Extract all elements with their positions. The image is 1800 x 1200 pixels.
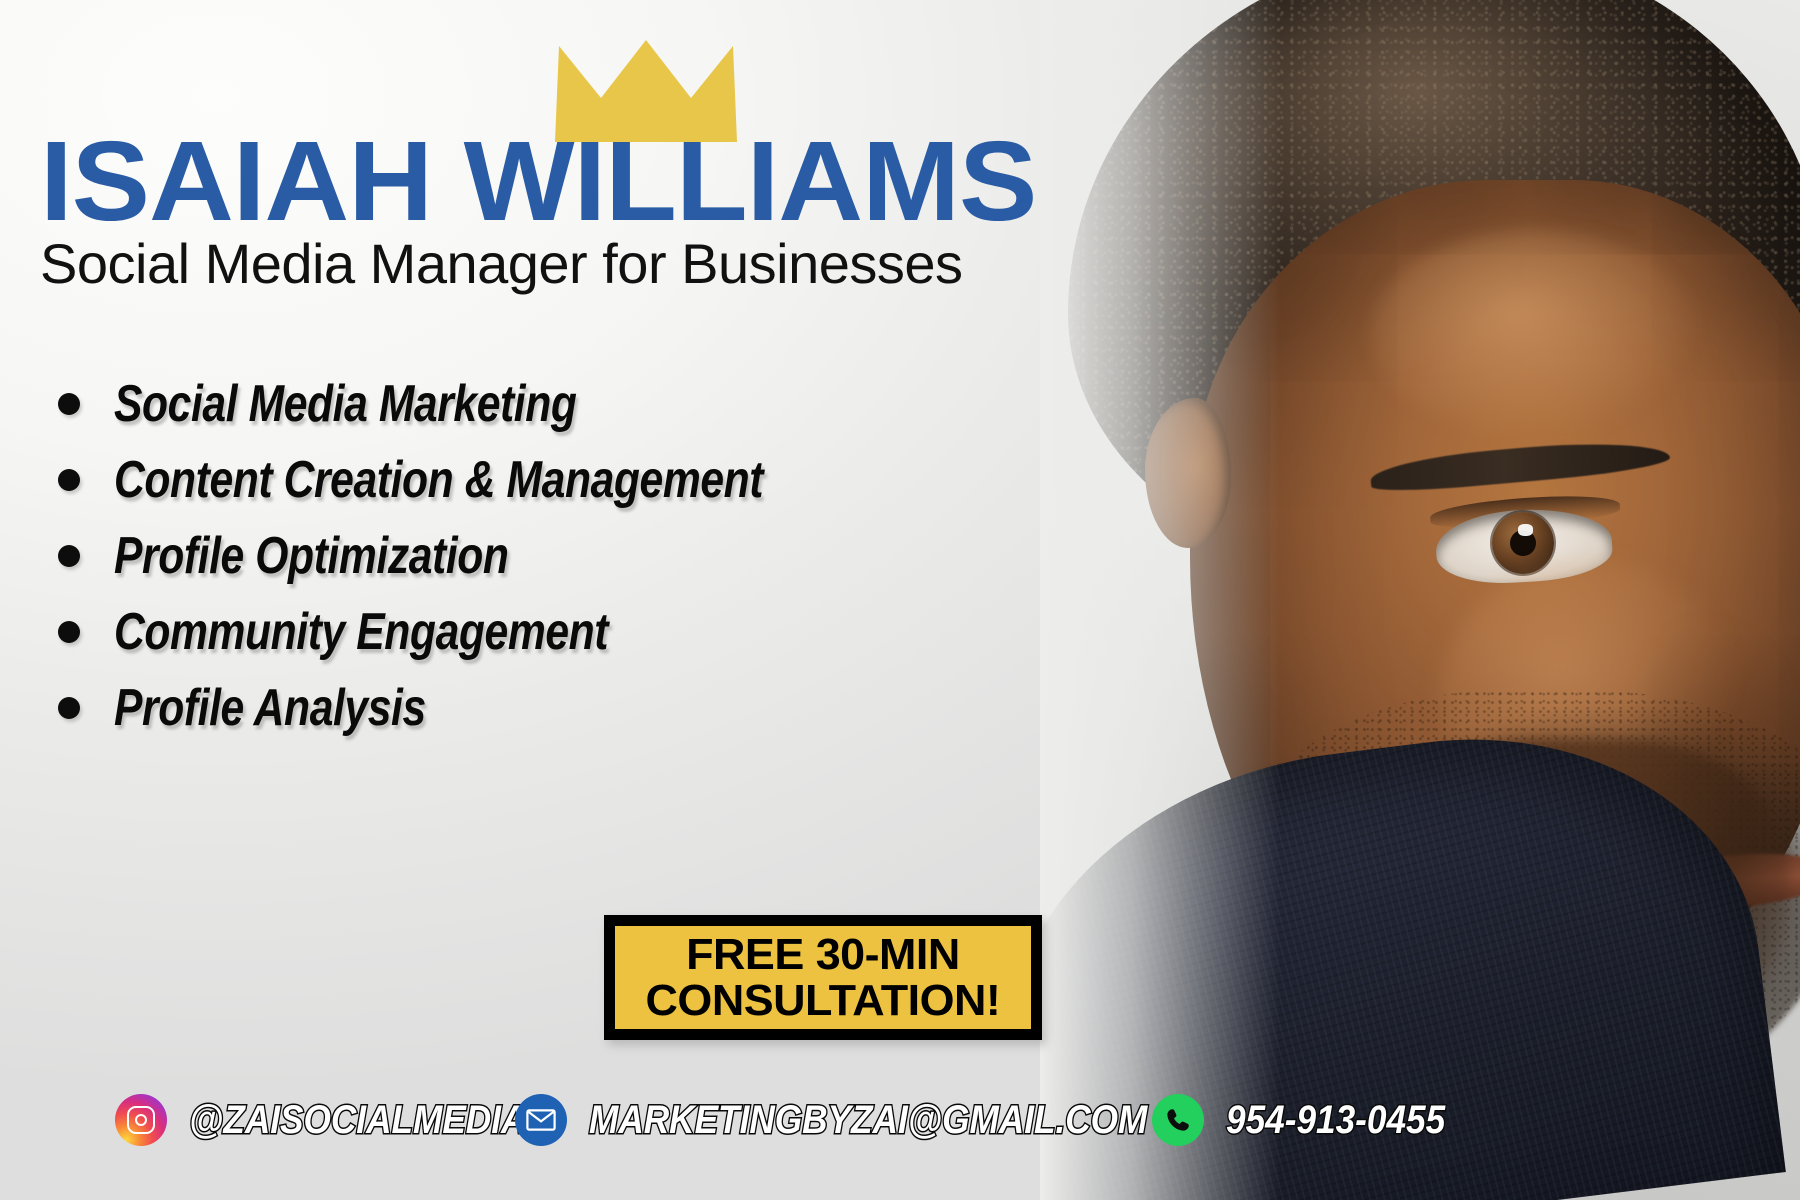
flyer-canvas: ISAIAH WILLIAMS Social Media Manager for…: [0, 0, 1800, 1200]
contact-instagram[interactable]: @ZAISOCIALMEDIA: [115, 1094, 572, 1146]
list-item: Profile Analysis: [58, 670, 906, 746]
instagram-lens: [135, 1114, 147, 1126]
portrait-photo: [1040, 0, 1800, 1200]
free-consultation-badge[interactable]: FREE 30-MIN CONSULTATION!: [604, 915, 1042, 1040]
phone-icon[interactable]: [1152, 1094, 1204, 1146]
contact-bar: @ZAISOCIALMEDIA MARKETINGBYZAI@GMAIL.COM…: [0, 1094, 1800, 1170]
bullet-dot-icon: [58, 545, 80, 567]
services-list: Social Media Marketing Content Creation …: [58, 366, 906, 746]
bullet-dot-icon: [58, 469, 80, 491]
list-item: Profile Optimization: [58, 518, 906, 594]
service-label: Profile Optimization: [114, 526, 509, 586]
cta-line-2: CONSULTATION!: [646, 978, 1001, 1023]
ear: [1145, 398, 1231, 548]
page-title: ISAIAH WILLIAMS: [40, 128, 1036, 235]
email-address: MARKETINGBYZAI@GMAIL.COM: [589, 1098, 1147, 1143]
instagram-icon[interactable]: [115, 1094, 167, 1146]
cta-line-1: FREE 30-MIN: [646, 932, 1001, 977]
bullet-dot-icon: [58, 393, 80, 415]
list-item: Content Creation & Management: [58, 442, 906, 518]
service-label: Social Media Marketing: [114, 374, 577, 434]
service-label: Profile Analysis: [114, 678, 426, 738]
email-icon[interactable]: [515, 1094, 567, 1146]
instagram-handle: @ZAISOCIALMEDIA: [189, 1098, 526, 1143]
page-subtitle: Social Media Manager for Businesses: [40, 236, 963, 292]
eye-glint: [1518, 524, 1533, 536]
list-item: Community Engagement: [58, 594, 906, 670]
list-item: Social Media Marketing: [58, 366, 906, 442]
bullet-dot-icon: [58, 621, 80, 643]
service-label: Content Creation & Management: [114, 450, 763, 510]
bullet-dot-icon: [58, 697, 80, 719]
forehead-highlight: [1370, 230, 1700, 440]
cta-text: FREE 30-MIN CONSULTATION!: [646, 932, 1001, 1023]
contact-email[interactable]: MARKETINGBYZAI@GMAIL.COM: [515, 1094, 1224, 1146]
phone-number: 954-913-0455: [1226, 1098, 1445, 1143]
service-label: Community Engagement: [114, 602, 608, 662]
contact-phone[interactable]: 954-913-0455: [1152, 1094, 1475, 1146]
